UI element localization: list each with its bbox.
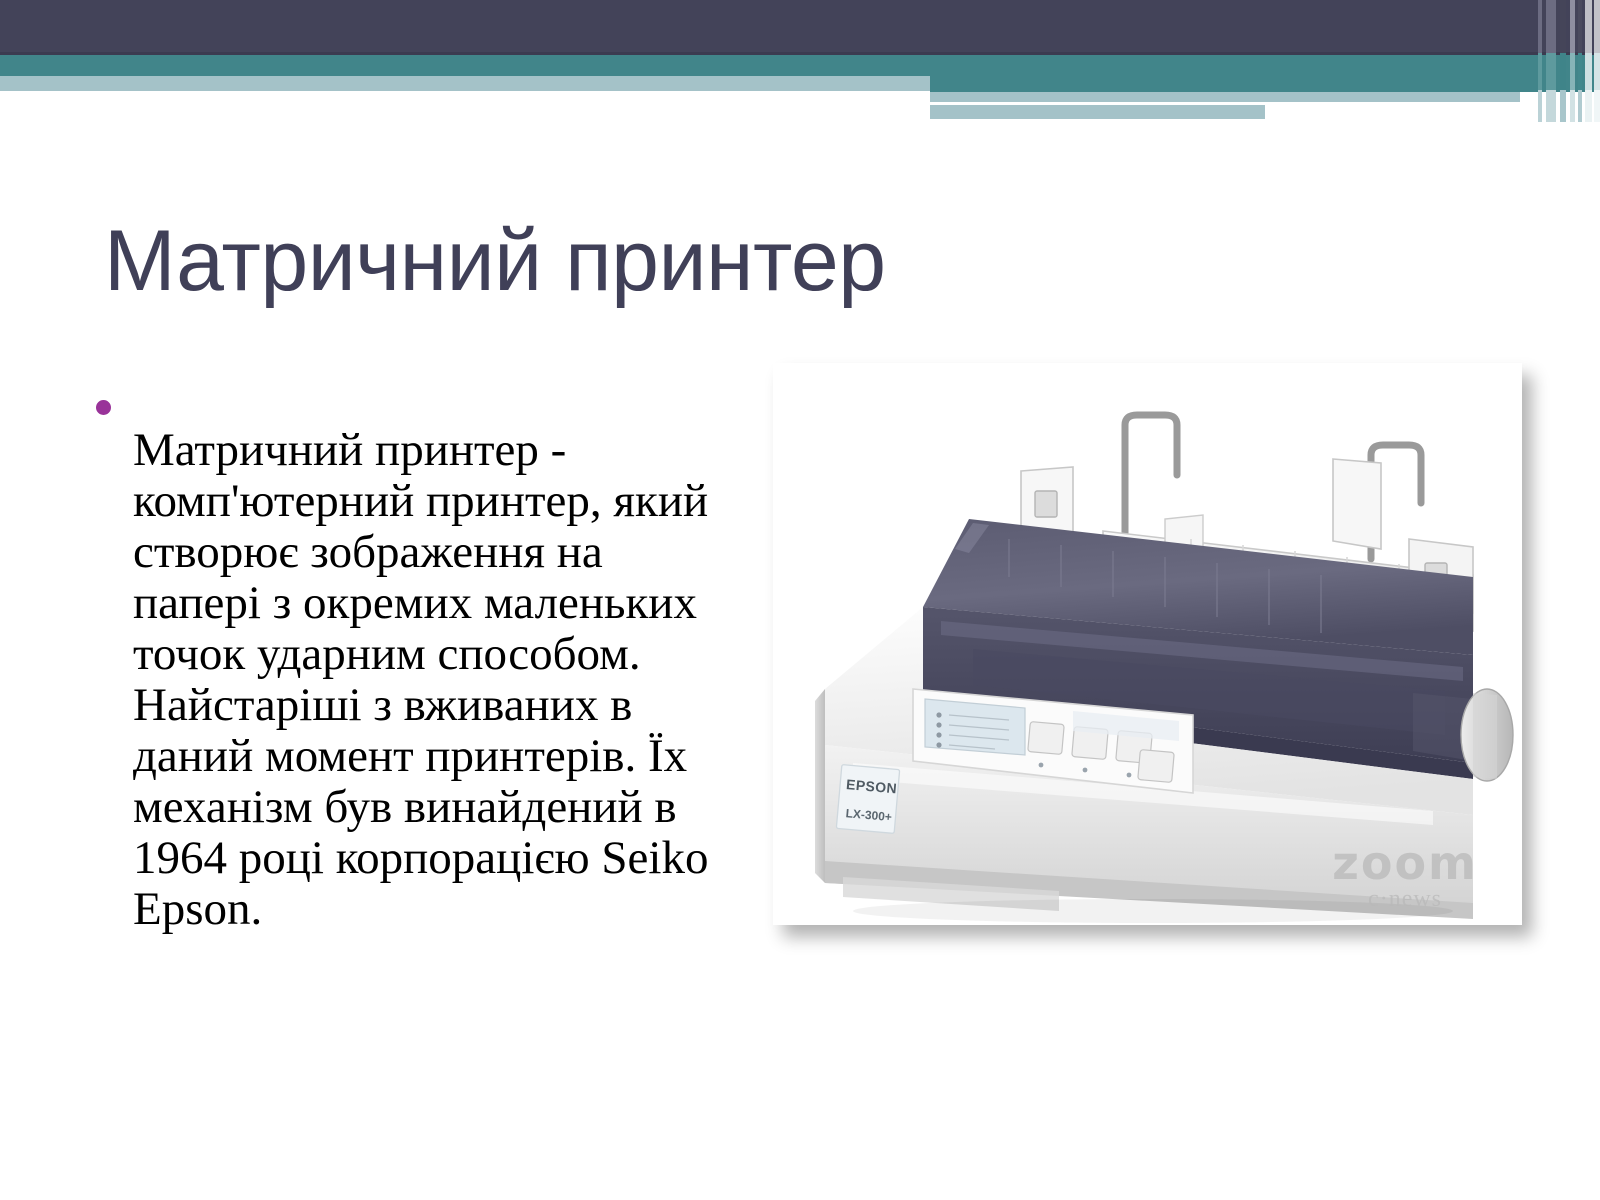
edge-stripe-2 [1546, 0, 1556, 122]
header-band-teal [0, 55, 1600, 76]
presentation-slide: Матричний принтер Матричний принтер - ко… [0, 0, 1600, 1200]
edge-stripe-6 [1585, 0, 1592, 122]
printer-image: EPSON LX-300+ zoom c·news [773, 363, 1522, 925]
edge-stripe-1 [1538, 0, 1542, 122]
header-band-white-gap [930, 102, 1520, 106]
header-band-pale-left [0, 76, 930, 91]
header-band-pale-right-upper [930, 92, 1520, 102]
edge-stripe-7 [1594, 0, 1600, 122]
body-text-column: Матричний принтер - комп'ютерний принтер… [96, 378, 736, 982]
bullet-list-item: Матричний принтер - комп'ютерний принтер… [96, 378, 736, 982]
header-band-pale-right-lower [930, 105, 1265, 119]
edge-stripe-4 [1570, 0, 1575, 122]
slide-title: Матричний принтер [104, 216, 1304, 307]
dot-matrix-printer-illustration: EPSON LX-300+ [773, 363, 1522, 925]
epson-brand-badge: EPSON LX-300+ [836, 765, 899, 834]
header-band-dark [0, 0, 1600, 52]
header-band-dark-edge [0, 52, 1600, 55]
platen-knob [1461, 689, 1513, 781]
edge-stripe-group [1540, 0, 1600, 122]
bullet-item-text: Матричний принтер - комп'ютерний принтер… [133, 425, 736, 935]
header-band-teal-right [930, 76, 1600, 92]
edge-stripe-3 [1560, 0, 1566, 122]
edge-stripe-5 [1578, 0, 1582, 122]
bullet-dot-icon [96, 400, 111, 415]
